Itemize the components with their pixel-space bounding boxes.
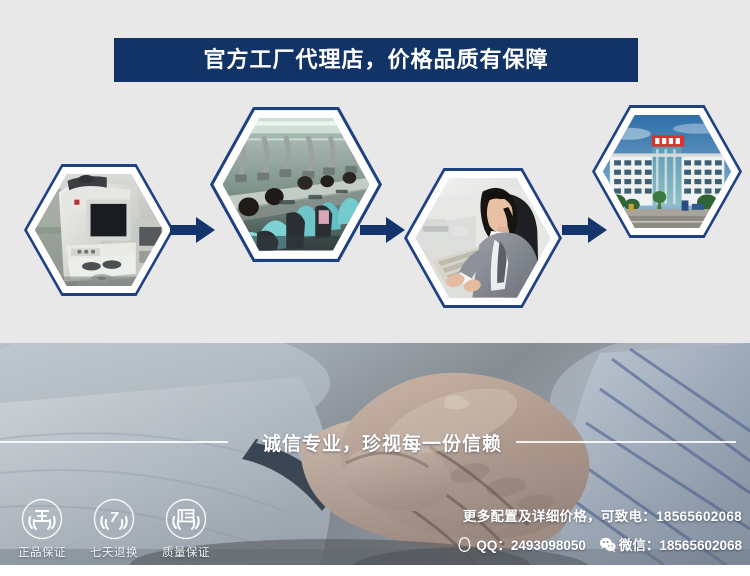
title-banner-text: 官方工厂代理店，价格品质有保障 — [203, 49, 548, 71]
hex-border-inner — [27, 167, 171, 294]
hex-border-outer — [210, 107, 382, 262]
quality-guarantee-icon — [165, 498, 207, 540]
slogan-row: 诚信专业，珍视每一份信赖 — [0, 425, 750, 459]
badge-genuine-label: 正品保证 — [18, 544, 66, 560]
slogan-divider-left — [0, 441, 228, 443]
flow-step-equipment[interactable] — [24, 164, 174, 296]
contact-im-line: QQ：2493098050 微信：18565602068 — [456, 534, 742, 554]
wechat-icon — [599, 536, 616, 553]
qq-number: QQ：2493098050 — [476, 534, 586, 554]
seven-day-return-icon: 7 — [93, 498, 135, 540]
contact-phone-line: 更多配置及详细价格，可致电：18565602068 — [463, 505, 742, 525]
hex-border-inner — [407, 171, 559, 305]
hex-border-outer — [592, 105, 742, 238]
hex-border-inner — [213, 110, 378, 259]
wechat-number: 微信：18565602068 — [619, 534, 742, 554]
flow-step-building[interactable] — [592, 105, 742, 238]
badge-quality[interactable]: 质量保证 — [150, 498, 222, 560]
qq-penguin-icon — [456, 536, 473, 553]
return-days-number: 7 — [110, 509, 119, 526]
badge-return-label: 七天退换 — [90, 544, 138, 560]
badge-genuine[interactable]: 正品保证 — [6, 498, 78, 560]
hex-border-inner — [595, 108, 739, 236]
customer-service-photo — [416, 178, 551, 298]
hex-border-outer — [404, 168, 562, 308]
genuine-guarantee-icon — [21, 498, 63, 540]
trust-badges: 正品保证 7 七天退换 — [6, 498, 226, 568]
process-flow — [0, 95, 750, 325]
title-banner: 官方工厂代理店，价格品质有保障 — [114, 38, 638, 82]
assembly-line-photo — [223, 118, 370, 250]
factory-equipment-photo — [35, 174, 163, 287]
flow-step-assembly[interactable] — [210, 107, 382, 262]
promo-banner-page: 官方工厂代理店，价格品质有保障 — [0, 0, 750, 576]
slogan-text: 诚信专业，珍视每一份信赖 — [262, 429, 502, 456]
badge-return[interactable]: 7 七天退换 — [78, 498, 150, 560]
footer-whitespace — [0, 565, 750, 576]
company-building-photo — [603, 115, 731, 229]
flow-arrow-2 — [360, 215, 406, 245]
slogan-divider-right — [516, 441, 736, 443]
flow-step-service[interactable] — [404, 168, 562, 308]
top-section: 官方工厂代理店，价格品质有保障 — [0, 0, 750, 343]
contact-block: 更多配置及详细价格，可致电：18565602068 QQ：2493098050 … — [322, 505, 742, 554]
hex-border-outer — [24, 164, 174, 296]
badge-quality-label: 质量保证 — [162, 544, 210, 560]
